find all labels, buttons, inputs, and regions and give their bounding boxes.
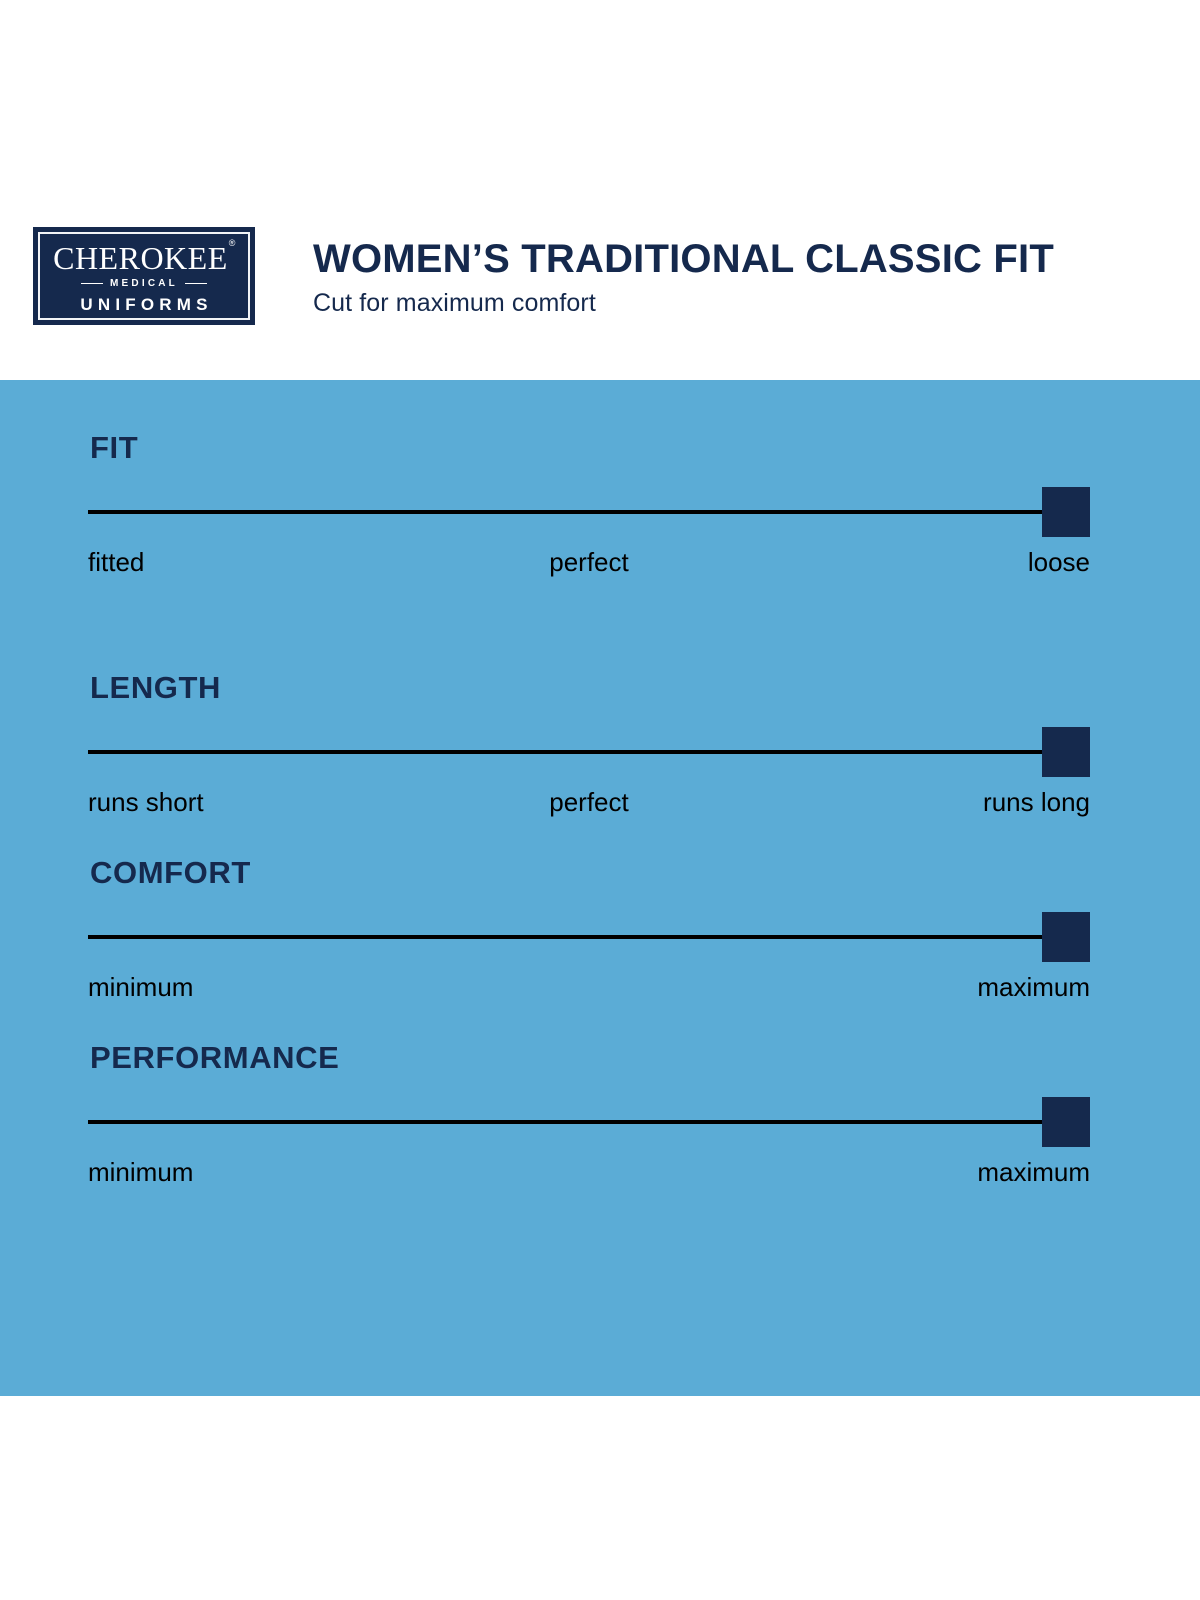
slider-line	[88, 935, 1044, 939]
scale-label-max: maximum	[977, 974, 1090, 1000]
slider-thumb[interactable]	[1042, 487, 1090, 537]
scale-labels: fitted perfect loose	[88, 549, 1090, 589]
slider-track-performance[interactable]	[88, 1097, 1090, 1147]
logo-dash-left-icon	[81, 283, 103, 285]
fit-guide-page: CHEROKEE® MEDICAL UNIFORMS WOMEN’S TRADI…	[0, 0, 1200, 1600]
meter-title: PERFORMANCE	[88, 1042, 1090, 1073]
logo-medical-text: MEDICAL	[110, 279, 178, 289]
meter-fit: FIT fitted perfect loose	[88, 432, 1090, 617]
logo-brand-text: CHEROKEE	[53, 240, 228, 276]
page-title: WOMEN’S TRADITIONAL CLASSIC FIT	[313, 238, 1054, 280]
title-block: WOMEN’S TRADITIONAL CLASSIC FIT Cut for …	[313, 238, 1054, 318]
page-subtitle: Cut for maximum comfort	[313, 290, 1054, 318]
logo-brand-name: CHEROKEE®	[53, 242, 235, 274]
meter-performance: PERFORMANCE minimum maximum	[88, 1042, 1090, 1227]
slider-line	[88, 1120, 1044, 1124]
slider-track-fit[interactable]	[88, 487, 1090, 537]
meter-length: LENGTH runs short perfect runs long	[88, 672, 1090, 857]
slider-track-comfort[interactable]	[88, 912, 1090, 962]
scale-labels: runs short perfect runs long	[88, 789, 1090, 829]
meter-title: FIT	[88, 432, 1090, 463]
scale-label-middle: perfect	[549, 549, 629, 575]
scale-label-min: fitted	[88, 549, 144, 575]
slider-thumb[interactable]	[1042, 727, 1090, 777]
scale-label-min: minimum	[88, 974, 193, 1000]
scale-label-max: loose	[1028, 549, 1090, 575]
logo-inner-border: CHEROKEE® MEDICAL UNIFORMS	[38, 232, 250, 320]
logo-dash-right-icon	[185, 283, 207, 285]
meter-list: FIT fitted perfect loose LENGTH	[88, 432, 1090, 1172]
page-header: CHEROKEE® MEDICAL UNIFORMS WOMEN’S TRADI…	[0, 0, 1200, 380]
page-footer-whitespace	[0, 1396, 1200, 1600]
scale-label-max: runs long	[983, 789, 1090, 815]
slider-line	[88, 750, 1044, 754]
scale-label-middle: perfect	[549, 789, 629, 815]
slider-track-length[interactable]	[88, 727, 1090, 777]
attributes-panel: FIT fitted perfect loose LENGTH	[0, 380, 1200, 1396]
slider-line	[88, 510, 1044, 514]
scale-label-max: maximum	[977, 1159, 1090, 1185]
scale-label-min: runs short	[88, 789, 204, 815]
meter-comfort: COMFORT minimum maximum	[88, 857, 1090, 1042]
slider-thumb[interactable]	[1042, 1097, 1090, 1147]
meter-title: COMFORT	[88, 857, 1090, 888]
logo-medical-line: MEDICAL	[81, 279, 207, 289]
scale-labels: minimum maximum	[88, 1159, 1090, 1199]
slider-thumb[interactable]	[1042, 912, 1090, 962]
cherokee-medical-uniforms-logo: CHEROKEE® MEDICAL UNIFORMS	[33, 227, 255, 325]
scale-label-min: minimum	[88, 1159, 193, 1185]
registered-trademark-icon: ®	[229, 238, 236, 248]
meter-title: LENGTH	[88, 672, 1090, 703]
scale-labels: minimum maximum	[88, 974, 1090, 1014]
logo-uniforms-text: UNIFORMS	[75, 296, 212, 313]
